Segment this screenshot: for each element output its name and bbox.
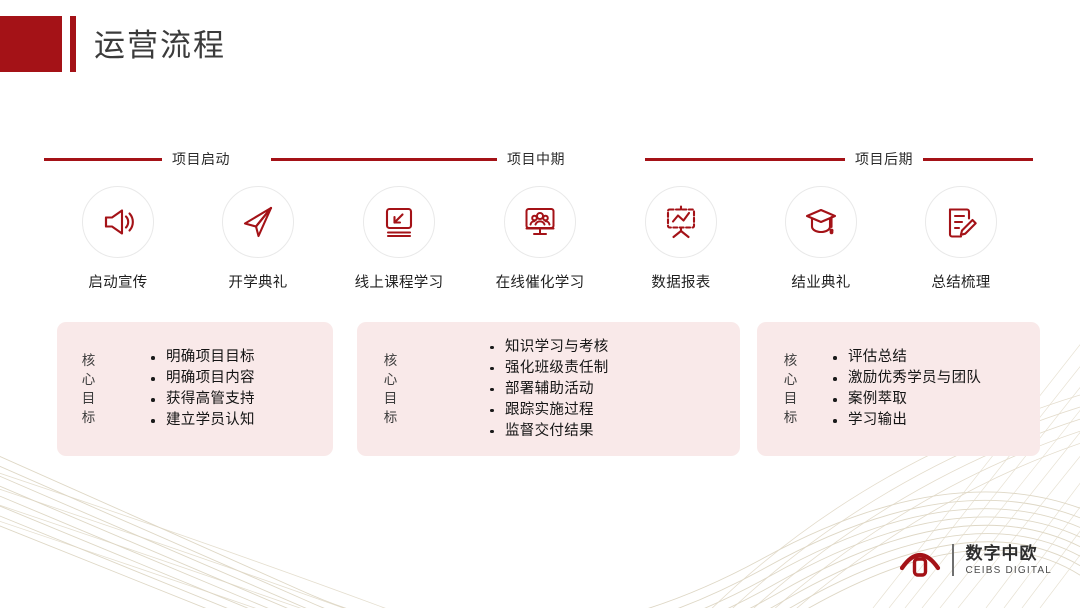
process-step-label: 结业典礼	[761, 271, 881, 292]
core-goal-bullet: 知识学习与考核	[486, 337, 609, 358]
core-goal-vertical-title: 核心目标	[381, 351, 401, 427]
vertical-title-char: 心	[79, 370, 99, 389]
phase-label: 项目启动	[172, 149, 230, 169]
vertical-title-char: 标	[381, 408, 401, 427]
process-step-2[interactable]: 开学典礼	[198, 186, 318, 292]
process-step-label: 数据报表	[621, 271, 741, 292]
core-goal-card-row: 核心目标明确项目目标明确项目内容获得高管支持建立学员认知核心目标知识学习与考核强…	[0, 322, 1080, 456]
graduation-cap-icon	[785, 186, 857, 258]
core-goal-card-1: 核心目标明确项目目标明确项目内容获得高管支持建立学员认知	[57, 322, 333, 456]
paper-plane-icon	[222, 186, 294, 258]
process-step-label: 在线催化学习	[480, 271, 600, 292]
core-goal-bullet: 建立学员认知	[147, 410, 255, 431]
phase-label: 项目中期	[507, 149, 565, 169]
process-step-7[interactable]: 总结梳理	[901, 186, 1021, 292]
process-step-3[interactable]: 线上课程学习	[339, 186, 459, 292]
vertical-title-char: 心	[781, 370, 801, 389]
phase-header-row: 项目启动项目中期项目后期	[44, 148, 1036, 170]
phase-rule-right	[923, 158, 1033, 161]
title-accent-bar	[70, 16, 76, 72]
monitor-cursor-icon	[363, 186, 435, 258]
core-goal-bullet-list: 知识学习与考核强化班级责任制部署辅助活动跟踪实施过程监督交付结果	[486, 337, 609, 442]
core-goal-bullet: 获得高管支持	[147, 389, 255, 410]
page-title: 运营流程	[94, 26, 226, 66]
vertical-title-char: 核	[381, 351, 401, 370]
process-step-label: 开学典礼	[198, 271, 318, 292]
document-pencil-icon	[925, 186, 997, 258]
process-step-label: 总结梳理	[901, 271, 1021, 292]
core-goal-bullet: 监督交付结果	[486, 421, 609, 442]
core-goal-bullet: 激励优秀学员与团队	[829, 368, 981, 389]
phase-rule-left	[44, 158, 162, 161]
process-step-row: 启动宣传 开学典礼 线上课程学习 在线催化学习	[0, 186, 1080, 296]
phase-rule-left	[271, 158, 497, 161]
phase-label: 项目后期	[855, 149, 913, 169]
core-goal-card-2: 核心目标知识学习与考核强化班级责任制部署辅助活动跟踪实施过程监督交付结果	[357, 322, 740, 456]
core-goal-bullet: 部署辅助活动	[486, 379, 609, 400]
vertical-title-char: 目	[781, 389, 801, 408]
title-accent-block	[0, 16, 62, 72]
vertical-title-char: 核	[781, 351, 801, 370]
megaphone-icon	[82, 186, 154, 258]
process-step-label: 线上课程学习	[339, 271, 459, 292]
phase-header-2: 项目中期	[271, 148, 565, 170]
phase-rule-left	[645, 158, 845, 161]
page-header: 运营流程	[0, 0, 1080, 95]
vertical-title-char: 心	[381, 370, 401, 389]
process-step-6[interactable]: 结业典礼	[761, 186, 881, 292]
core-goal-bullet: 强化班级责任制	[486, 358, 609, 379]
core-goal-bullet: 明确项目目标	[147, 347, 255, 368]
logo-divider	[952, 544, 954, 576]
core-goal-bullet: 学习输出	[829, 410, 981, 431]
monitor-people-icon	[504, 186, 576, 258]
core-goal-bullet: 明确项目内容	[147, 368, 255, 389]
process-step-4[interactable]: 在线催化学习	[480, 186, 600, 292]
vertical-title-char: 核	[79, 351, 99, 370]
phase-header-3: 项目后期	[645, 148, 1033, 170]
core-goal-vertical-title: 核心目标	[79, 351, 99, 427]
process-step-5[interactable]: 数据报表	[621, 186, 741, 292]
logo-text: 数字中欧 CEIBS DIGITAL	[966, 545, 1053, 576]
footer-brand-logo: 数字中欧 CEIBS DIGITAL	[898, 534, 1052, 586]
core-goal-bullet: 评估总结	[829, 347, 981, 368]
core-goal-vertical-title: 核心目标	[781, 351, 801, 427]
core-goal-bullet: 跟踪实施过程	[486, 400, 609, 421]
presentation-chart-icon	[645, 186, 717, 258]
vertical-title-char: 目	[79, 389, 99, 408]
core-goal-bullet-list: 评估总结激励优秀学员与团队案例萃取学习输出	[829, 347, 981, 431]
he-character-house-logo-icon	[898, 538, 942, 582]
logo-name-en: CEIBS DIGITAL	[966, 566, 1053, 576]
logo-name-cn: 数字中欧	[966, 545, 1053, 562]
core-goal-card-3: 核心目标评估总结激励优秀学员与团队案例萃取学习输出	[757, 322, 1040, 456]
process-step-1[interactable]: 启动宣传	[58, 186, 178, 292]
phase-header-1: 项目启动	[44, 148, 230, 170]
vertical-title-char: 目	[381, 389, 401, 408]
core-goal-bullet: 案例萃取	[829, 389, 981, 410]
core-goal-bullet-list: 明确项目目标明确项目内容获得高管支持建立学员认知	[147, 347, 255, 431]
vertical-title-char: 标	[781, 408, 801, 427]
process-step-label: 启动宣传	[58, 271, 178, 292]
vertical-title-char: 标	[79, 408, 99, 427]
